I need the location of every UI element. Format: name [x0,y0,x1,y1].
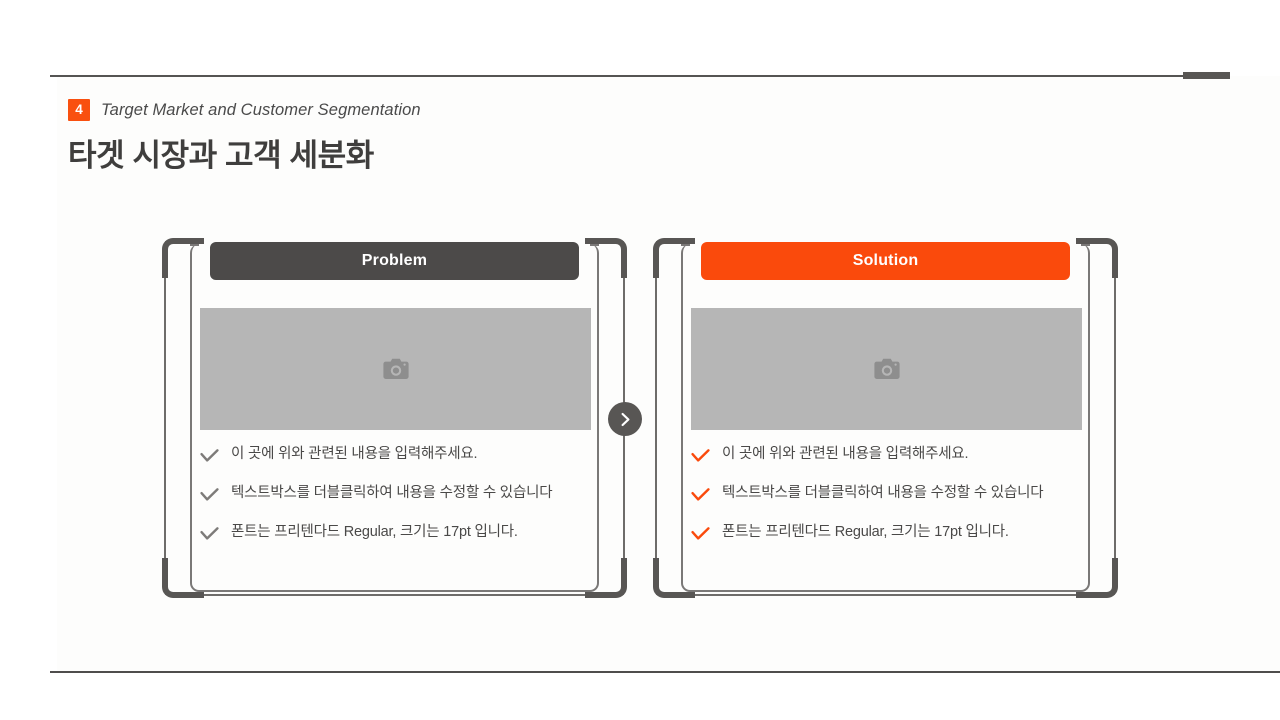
slide-canvas: 4 Target Market and Customer Segmentatio… [0,0,1280,720]
list-item: 이 곳에 위와 관련된 내용을 입력해주세요. [200,446,600,485]
card-edge-bottom [204,594,585,596]
bullet-list-solution: 이 곳에 위와 관련된 내용을 입력해주세요. 텍스트박스를 더블클릭하여 내용… [691,446,1091,563]
list-item-label: 텍스트박스를 더블클릭하여 내용을 수정할 수 있습니다 [231,485,552,502]
card-problem[interactable]: Problem 이 곳에 위와 관련된 내용을 입력해주세요. [162,238,627,598]
card-header-problem[interactable]: Problem [210,242,579,280]
camera-icon [383,358,409,380]
image-placeholder-solution[interactable] [691,308,1082,430]
card-header-label: Solution [853,252,919,270]
card-edge-left [164,278,166,558]
card-bracket-bottom-left [162,558,204,598]
card-edge-bottom [695,594,1076,596]
list-item-label: 텍스트박스를 더블클릭하여 내용을 수정할 수 있습니다 [722,485,1043,502]
list-item: 이 곳에 위와 관련된 내용을 입력해주세요. [691,446,1091,485]
card-bracket-bottom-right [585,558,627,598]
check-icon [200,449,219,463]
list-item-label: 이 곳에 위와 관련된 내용을 입력해주세요. [231,446,477,463]
bullet-list-problem: 이 곳에 위와 관련된 내용을 입력해주세요. 텍스트박스를 더블클릭하여 내용… [200,446,600,563]
list-item: 폰트는 프리텐다드 Regular, 크기는 17pt 입니다. [200,524,600,563]
card-bracket-bottom-right [1076,558,1118,598]
next-step-arrow-button[interactable] [608,402,642,436]
card-bracket-bottom-left [653,558,695,598]
list-item: 폰트는 프리텐다드 Regular, 크기는 17pt 입니다. [691,524,1091,563]
check-icon [200,527,219,541]
card-edge-right [1114,278,1116,558]
check-icon [200,488,219,502]
image-placeholder-problem[interactable] [200,308,591,430]
card-bracket-top-right [1076,238,1118,278]
check-icon [691,449,710,463]
card-header-solution[interactable]: Solution [701,242,1070,280]
list-item-label: 이 곳에 위와 관련된 내용을 입력해주세요. [722,446,968,463]
chevron-right-icon [619,412,632,427]
list-item-label: 폰트는 프리텐다드 Regular, 크기는 17pt 입니다. [231,524,518,541]
list-item: 텍스트박스를 더블클릭하여 내용을 수정할 수 있습니다 [691,485,1091,524]
card-header-label: Problem [362,252,427,270]
list-item-label: 폰트는 프리텐다드 Regular, 크기는 17pt 입니다. [722,524,1009,541]
card-bracket-top-left [162,238,204,278]
check-icon [691,488,710,502]
card-solution[interactable]: Solution 이 곳에 위와 관련된 내용을 입력해주세요. [653,238,1118,598]
card-edge-left [655,278,657,558]
camera-icon [874,358,900,380]
cards-container: Problem 이 곳에 위와 관련된 내용을 입력해주세요. [0,0,1280,720]
card-bracket-top-left [653,238,695,278]
card-bracket-top-right [585,238,627,278]
check-icon [691,527,710,541]
list-item: 텍스트박스를 더블클릭하여 내용을 수정할 수 있습니다 [200,485,600,524]
